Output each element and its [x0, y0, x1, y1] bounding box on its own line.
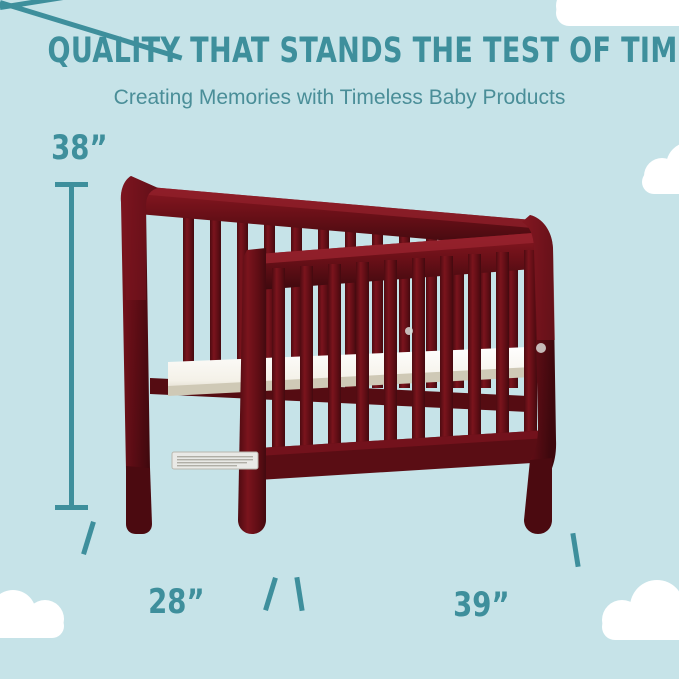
height-dimension-bottom-cap — [55, 505, 88, 510]
product-dimension-infographic: QUALITY THAT STANDS THE TEST OF TIME Cre… — [0, 0, 679, 679]
height-dimension-line — [69, 182, 74, 510]
crib-left-end-panel — [121, 176, 158, 534]
height-dimension-label: 38” — [51, 128, 107, 168]
crib-illustration — [0, 0, 679, 679]
width-dimension-label: 28” — [148, 582, 204, 622]
length-dimension-label: 39” — [453, 585, 509, 625]
crib-warning-label — [172, 452, 258, 469]
